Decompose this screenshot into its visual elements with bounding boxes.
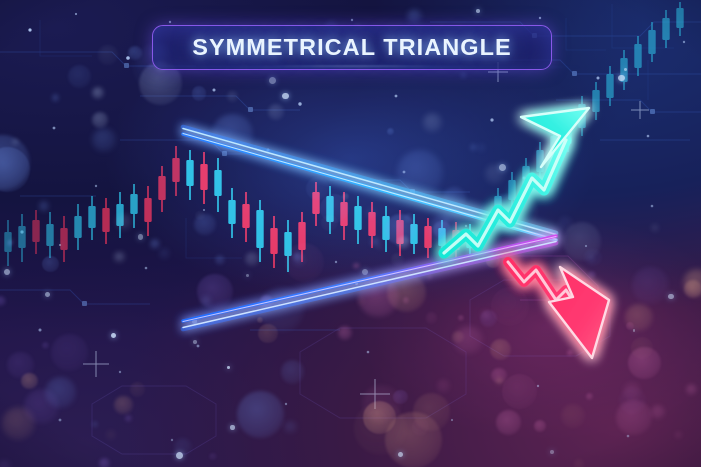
page-title: SYMMETRICAL TRIANGLE (192, 34, 512, 61)
title-badge: SYMMETRICAL TRIANGLE (152, 25, 552, 70)
infographic-canvas: SYMMETRICAL TRIANGLE (0, 0, 701, 467)
vignette (0, 0, 701, 467)
